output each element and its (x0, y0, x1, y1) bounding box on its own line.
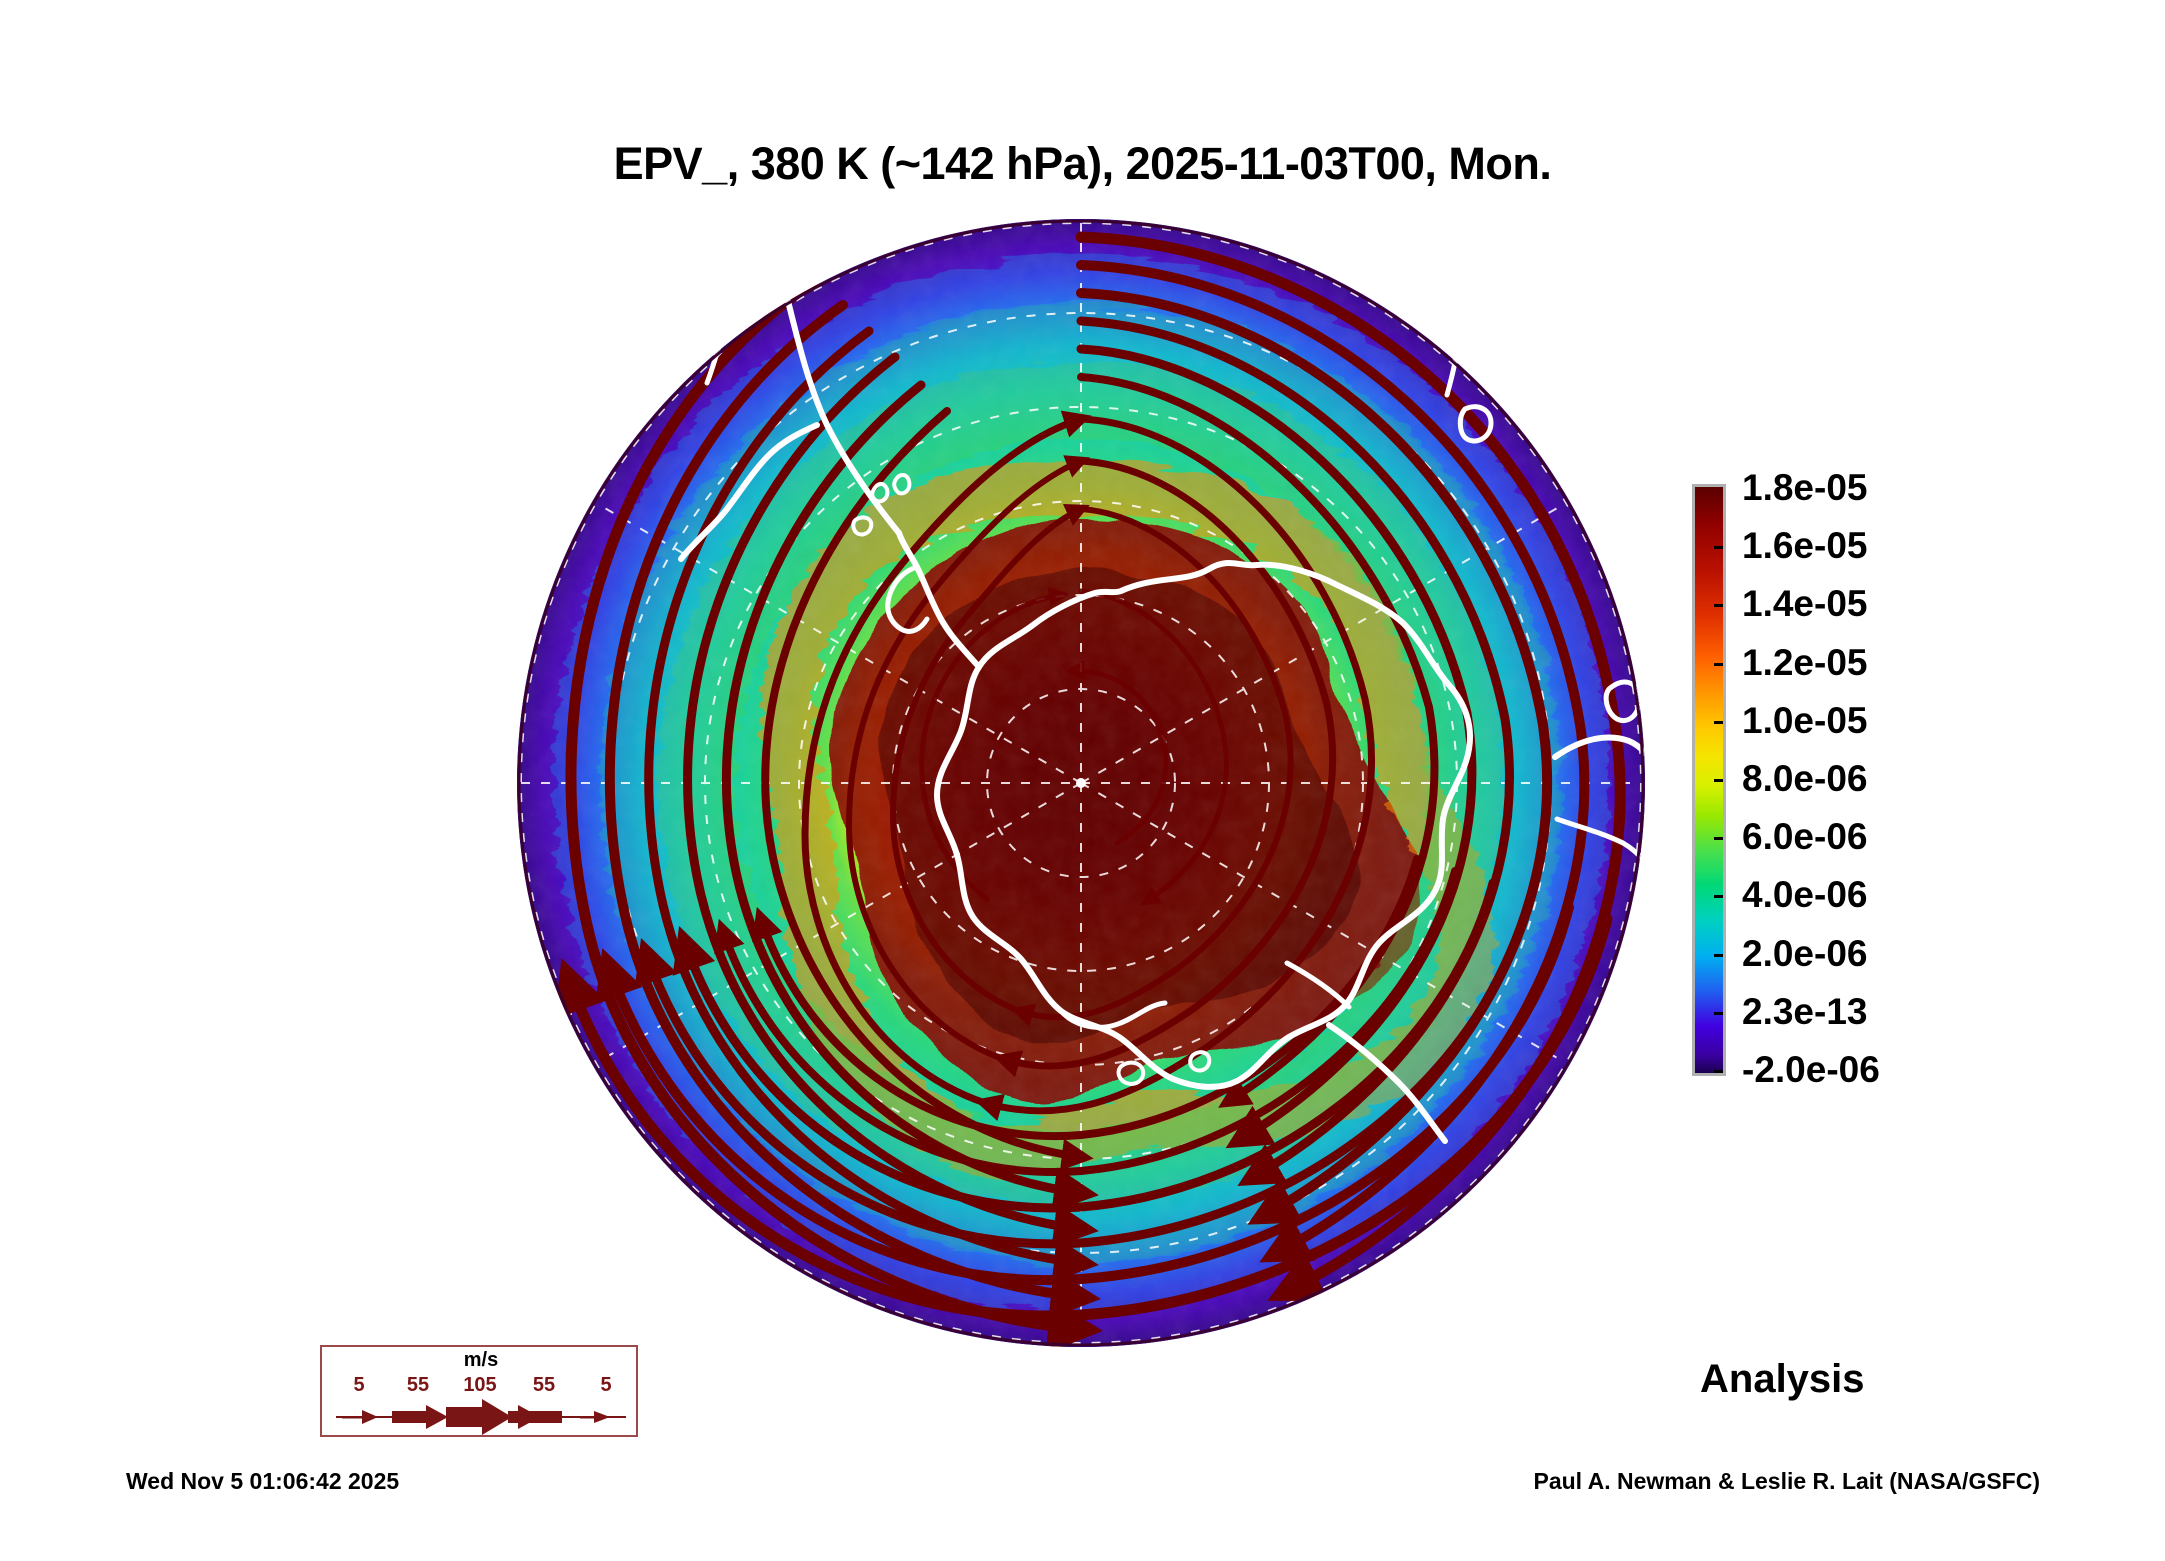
wind-tick-1: 55 (407, 1374, 429, 1397)
colorbar-tick-label: 1.8e-05 (1742, 469, 1868, 506)
map-render (517, 219, 1645, 1347)
colorbar-tick (1714, 954, 1723, 957)
colorbar-tick (1714, 1070, 1723, 1073)
colorbar-tick (1714, 663, 1723, 666)
wind-arrow-5-left (342, 1410, 378, 1424)
wind-arrow-scale (322, 1397, 640, 1437)
colorbar-tick (1714, 1012, 1723, 1015)
figure-canvas: EPV_, 380 K (~142 hPa), 2025-11-03T00, M… (0, 0, 2165, 1561)
analysis-label: Analysis (1700, 1357, 1865, 1402)
wind-arrow-5-right (580, 1411, 610, 1423)
colorbar-tick (1714, 546, 1723, 549)
colorbar-tick-label: 2.0e-06 (1742, 935, 1868, 972)
wind-units-label: m/s (322, 1349, 640, 1372)
colorbar-tick (1714, 895, 1723, 898)
colorbar-tick-label: 4.0e-06 (1742, 876, 1868, 913)
wind-arrow-55-left (392, 1405, 448, 1429)
page-title: EPV_, 380 K (~142 hPa), 2025-11-03T00, M… (0, 138, 2165, 190)
south-pole-marker (1076, 778, 1086, 788)
colorbar-tick-label: 8.0e-06 (1742, 760, 1868, 797)
wind-tick-2: 105 (463, 1374, 496, 1397)
colorbar-tick (1714, 604, 1723, 607)
colorbar-tick-label: -2.0e-06 (1742, 1051, 1880, 1088)
wind-arrow-55-right (508, 1405, 562, 1429)
colorbar-tick-label: 2.3e-13 (1742, 993, 1868, 1030)
map-disc (517, 219, 1645, 1347)
colorbar-tick (1714, 837, 1723, 840)
generation-timestamp: Wed Nov 5 01:06:42 2025 (126, 1468, 399, 1495)
wind-tick-0: 5 (353, 1374, 364, 1397)
wind-tick-labels: 555105555 (322, 1374, 640, 1398)
colorbar-tick (1714, 779, 1723, 782)
colorbar-tick-label: 1.4e-05 (1742, 585, 1868, 622)
wind-speed-legend[interactable]: m/s 555105555 (320, 1345, 638, 1437)
colorbar[interactable]: 1.8e-051.6e-051.4e-051.2e-051.0e-058.0e-… (1692, 484, 1726, 1076)
wind-arrow-105 (446, 1399, 512, 1435)
colorbar-tick-label: 6.0e-06 (1742, 818, 1868, 855)
wind-tick-4: 5 (600, 1374, 611, 1397)
colorbar-tick-label: 1.6e-05 (1742, 527, 1868, 564)
wind-arrow-svg (322, 1397, 640, 1437)
author-credits: Paul A. Newman & Leslie R. Lait (NASA/GS… (1533, 1468, 2040, 1495)
polar-map[interactable] (517, 219, 1645, 1347)
wind-tick-3: 55 (533, 1374, 555, 1397)
colorbar-tick-label: 1.2e-05 (1742, 644, 1868, 681)
colorbar-tick (1714, 721, 1723, 724)
colorbar-tick-label: 1.0e-05 (1742, 702, 1868, 739)
